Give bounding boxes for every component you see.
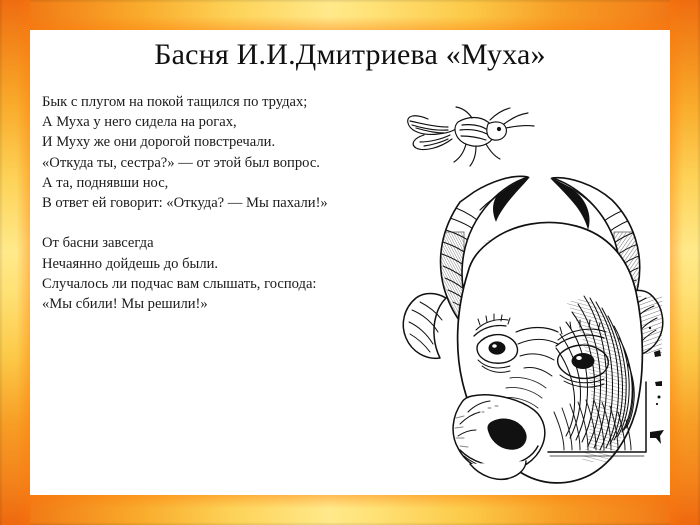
fable-line: «Мы сбили! Мы решили!» [42,294,412,314]
fable-text: Бык с плугом на покой тащился по трудах;… [42,92,412,314]
fable-stanza: От басни завсегда Нечаянно дойдешь до бы… [42,233,412,314]
engraving-ink [403,107,664,483]
fable-line: В ответ ей говорит: «Откуда? — Мы пахали… [42,193,412,213]
fable-stanza: Бык с плугом на покой тащился по трудах;… [42,92,412,213]
fable-line: Бык с плугом на покой тащился по трудах; [42,92,412,112]
fable-line: «Откуда ты, сестра?» — от этой был вопро… [42,153,412,173]
slide: Басня И.И.Дмитриева «Муха» Бык с плугом … [0,0,700,525]
slide-border-right [670,0,700,525]
fable-line: А та, поднявши нос, [42,173,412,193]
fable-line: От басни завсегда [42,233,412,253]
bull-head-with-fly-illustration [398,82,670,492]
left-ear [403,294,446,359]
fable-line: Случалось ли подчас вам слышать, господа… [42,274,412,294]
slide-content-area: Басня И.И.Дмитриева «Муха» Бык с плугом … [30,30,670,495]
fly-figure [408,107,534,166]
fable-line: Нечаянно дойдешь до были. [42,254,412,274]
fable-line: И Муху же они дорогой повстречали. [42,132,412,152]
slide-border-top [0,0,700,30]
slide-border-bottom [0,495,700,525]
slide-title: Басня И.И.Дмитриева «Муха» [30,38,670,72]
fable-line: А Муха у него сидела на рогах, [42,112,412,132]
slide-border-left [0,0,30,525]
bull-face [453,222,646,482]
